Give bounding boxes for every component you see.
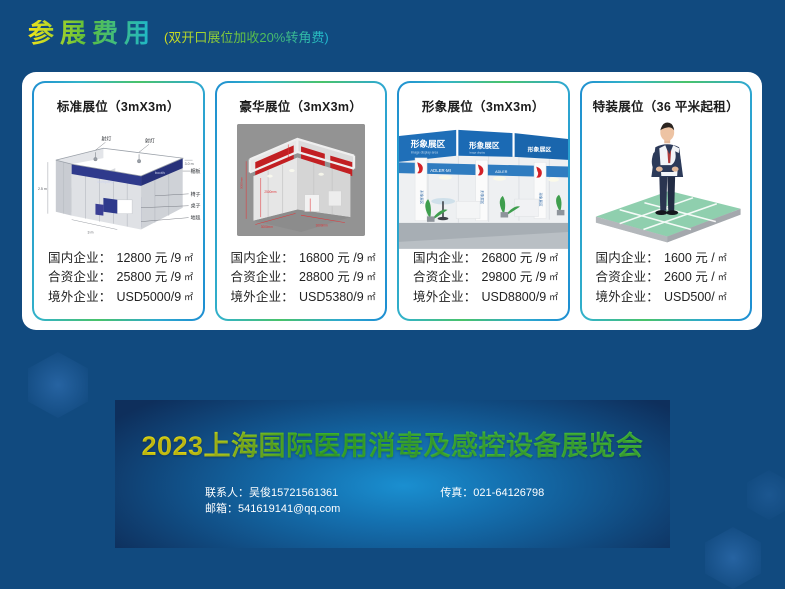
svg-text:Image display: Image display (469, 151, 486, 155)
price-value: 1600 元 / (664, 249, 715, 268)
contact-column-left: 联系人：吴俊15721561361 邮箱：541619141@qq.com (205, 486, 340, 517)
svg-text:2.5 m: 2.5 m (38, 187, 47, 191)
price-unit: ㎡ (718, 271, 727, 285)
deluxe-booth-photo: 3000mm 2500mm 3000mm 3000mm (237, 124, 365, 236)
svg-text:3000mm: 3000mm (239, 177, 243, 190)
svg-text:ADLER: ADLER (495, 170, 508, 174)
price-label: 国内企业： (48, 249, 112, 268)
contact-email[interactable]: 邮箱：541619141@qq.com (205, 502, 340, 517)
svg-text:2500mm: 2500mm (264, 190, 276, 194)
event-title: 2023上海国际医用消毒及感控设备展览会 (115, 424, 670, 463)
section-header: 参展费用 (双开口展位加收20%转角费) (28, 20, 329, 46)
price-row: 境外企业： USD5000/9 ㎡ (48, 288, 203, 307)
svg-text:形象展区: 形象展区 (469, 140, 500, 150)
card-title: 标准展位（3mX3m） (57, 96, 180, 115)
price-row: 境外企业： USD8800/9 ㎡ (413, 288, 568, 307)
price-unit: ㎡ (184, 252, 193, 266)
price-label: 合资企业： (231, 268, 295, 287)
svg-text:3 m: 3 m (88, 230, 94, 234)
card-title: 特装展位（36 平米起租） (593, 96, 739, 115)
contact-person: 联系人：吴俊15721561361 (205, 486, 340, 501)
price-value: USD500/ (664, 288, 715, 307)
price-label: 国内企业： (596, 249, 660, 268)
price-label: 合资企业： (413, 268, 477, 287)
price-value: USD5380/9 (299, 288, 364, 307)
standard-booth-diagram-figure: company booth (34, 119, 203, 249)
svg-text:射灯: 射灯 (145, 137, 155, 144)
price-label: 国内企业： (413, 249, 477, 268)
svg-text:3000mm: 3000mm (260, 225, 272, 229)
svg-text:3000mm: 3000mm (315, 224, 327, 228)
price-row: 合资企业： 2600 元 / ㎡ (596, 268, 751, 287)
card-title: 豪华展位（3mX3m） (239, 96, 362, 115)
price-label: 合资企业： (596, 268, 660, 287)
contact-column-right: 传真：021-64126798 (440, 486, 544, 517)
price-label: 境外企业： (231, 288, 295, 307)
price-unit: ㎡ (367, 252, 376, 266)
svg-text:桌子: 桌子 (191, 203, 201, 210)
price-value: 2600 元 / (664, 268, 715, 287)
svg-text:椅子: 椅子 (191, 191, 201, 198)
svg-text:形象展区: 形象展区 (411, 138, 446, 149)
price-value: 16800 元 /9 (299, 249, 364, 268)
price-value: 25800 元 /9 (117, 268, 182, 287)
svg-text:形象展区: 形象展区 (528, 145, 552, 153)
contact-block: 联系人：吴俊15721561361 邮箱：541619141@qq.com 传真… (205, 486, 544, 517)
svg-text:ADLER·MI: ADLER·MI (430, 168, 451, 173)
price-unit: ㎡ (549, 252, 558, 266)
pricing-card-list: 标准展位（3mX3m） (22, 72, 762, 330)
price-unit: ㎡ (367, 271, 376, 285)
deluxe-booth-icon: 3000mm 2500mm 3000mm 3000mm (237, 124, 365, 236)
price-label: 境外企业： (413, 288, 477, 307)
hexagon-decoration-right (747, 470, 785, 520)
price-unit: ㎡ (184, 271, 193, 285)
price-list: 国内企业： 1600 元 / ㎡ 合资企业： 2600 元 / ㎡ 境外企业： … (582, 249, 751, 319)
svg-text:Image display area: Image display area (411, 151, 439, 155)
pricing-card-raw-space[interactable]: 特装展位（36 平米起租） (580, 81, 753, 321)
svg-text:地毯: 地毯 (191, 215, 201, 222)
price-row: 国内企业： 1600 元 / ㎡ (596, 249, 751, 268)
businessman-on-plot-icon (582, 119, 751, 249)
price-value: 26800 元 /9 (482, 249, 547, 268)
card-title: 形象展位（3mX3m） (422, 96, 545, 115)
price-label: 境外企业： (48, 288, 112, 307)
price-value: USD5000/9 (117, 288, 182, 307)
price-row: 合资企业： 29800 元 /9 ㎡ (413, 268, 568, 287)
price-list: 国内企业： 26800 元 /9 ㎡ 合资企业： 29800 元 /9 ㎡ 境外… (399, 249, 568, 319)
hexagon-decoration-left (28, 352, 88, 418)
price-unit: ㎡ (549, 291, 558, 305)
page-subtitle: (双开口展位加收20%转角费) (164, 31, 329, 46)
image-booth-icon: 形象展区 形象展区 形象展区 Image display area Image … (399, 119, 568, 249)
price-label: 国内企业： (231, 249, 295, 268)
price-row: 合资企业： 25800 元 /9 ㎡ (48, 268, 203, 287)
svg-text:company: company (97, 179, 113, 184)
pricing-card-deluxe[interactable]: 豪华展位（3mX3m） (215, 81, 388, 321)
contact-fax: 传真：021-64126798 (440, 486, 544, 501)
price-value: 29800 元 /9 (482, 268, 547, 287)
hexagon-decoration-bottom-right (705, 527, 761, 589)
price-unit: ㎡ (367, 291, 376, 305)
price-list: 国内企业： 16800 元 /9 ㎡ 合资企业： 28800 元 /9 ㎡ 境外… (217, 249, 386, 319)
svg-text:3.0 m: 3.0 m (185, 162, 194, 166)
price-label: 境外企业： (596, 288, 660, 307)
price-row: 境外企业： USD500/ ㎡ (596, 288, 751, 307)
price-list: 国内企业： 12800 元 /9 ㎡ 合资企业： 25800 元 /9 ㎡ 境外… (34, 249, 203, 319)
price-row: 境外企业： USD5380/9 ㎡ (231, 288, 386, 307)
svg-text:booth: booth (155, 170, 165, 175)
price-unit: ㎡ (184, 291, 193, 305)
deluxe-booth-photo-figure: 3000mm 2500mm 3000mm 3000mm (217, 119, 386, 249)
pricing-panel: 标准展位（3mX3m） (22, 72, 762, 330)
price-unit: ㎡ (718, 252, 727, 266)
price-label: 合资企业： (48, 268, 112, 287)
price-row: 国内企业： 26800 元 /9 ㎡ (413, 249, 568, 268)
pricing-card-image[interactable]: 形象展位（3mX3m） (397, 81, 570, 321)
price-unit: ㎡ (718, 291, 727, 305)
svg-text:射灯: 射灯 (101, 135, 111, 142)
standard-booth-icon: company booth (34, 119, 203, 249)
image-booth-photo-figure: 形象展区 形象展区 形象展区 Image display area Image … (399, 119, 568, 249)
price-row: 国内企业： 12800 元 /9 ㎡ (48, 249, 203, 268)
event-banner: 2023上海国际医用消毒及感控设备展览会 联系人：吴俊15721561361 邮… (115, 400, 670, 548)
pricing-card-standard[interactable]: 标准展位（3mX3m） (32, 81, 205, 321)
price-row: 合资企业： 28800 元 /9 ㎡ (231, 268, 386, 287)
page-title: 参展费用 (28, 20, 156, 46)
raw-space-figure (582, 119, 751, 249)
price-value: 28800 元 /9 (299, 268, 364, 287)
price-value: 12800 元 /9 (117, 249, 182, 268)
price-row: 国内企业： 16800 元 /9 ㎡ (231, 249, 386, 268)
price-unit: ㎡ (549, 271, 558, 285)
svg-text:楣板: 楣板 (191, 168, 201, 175)
price-value: USD8800/9 (482, 288, 547, 307)
